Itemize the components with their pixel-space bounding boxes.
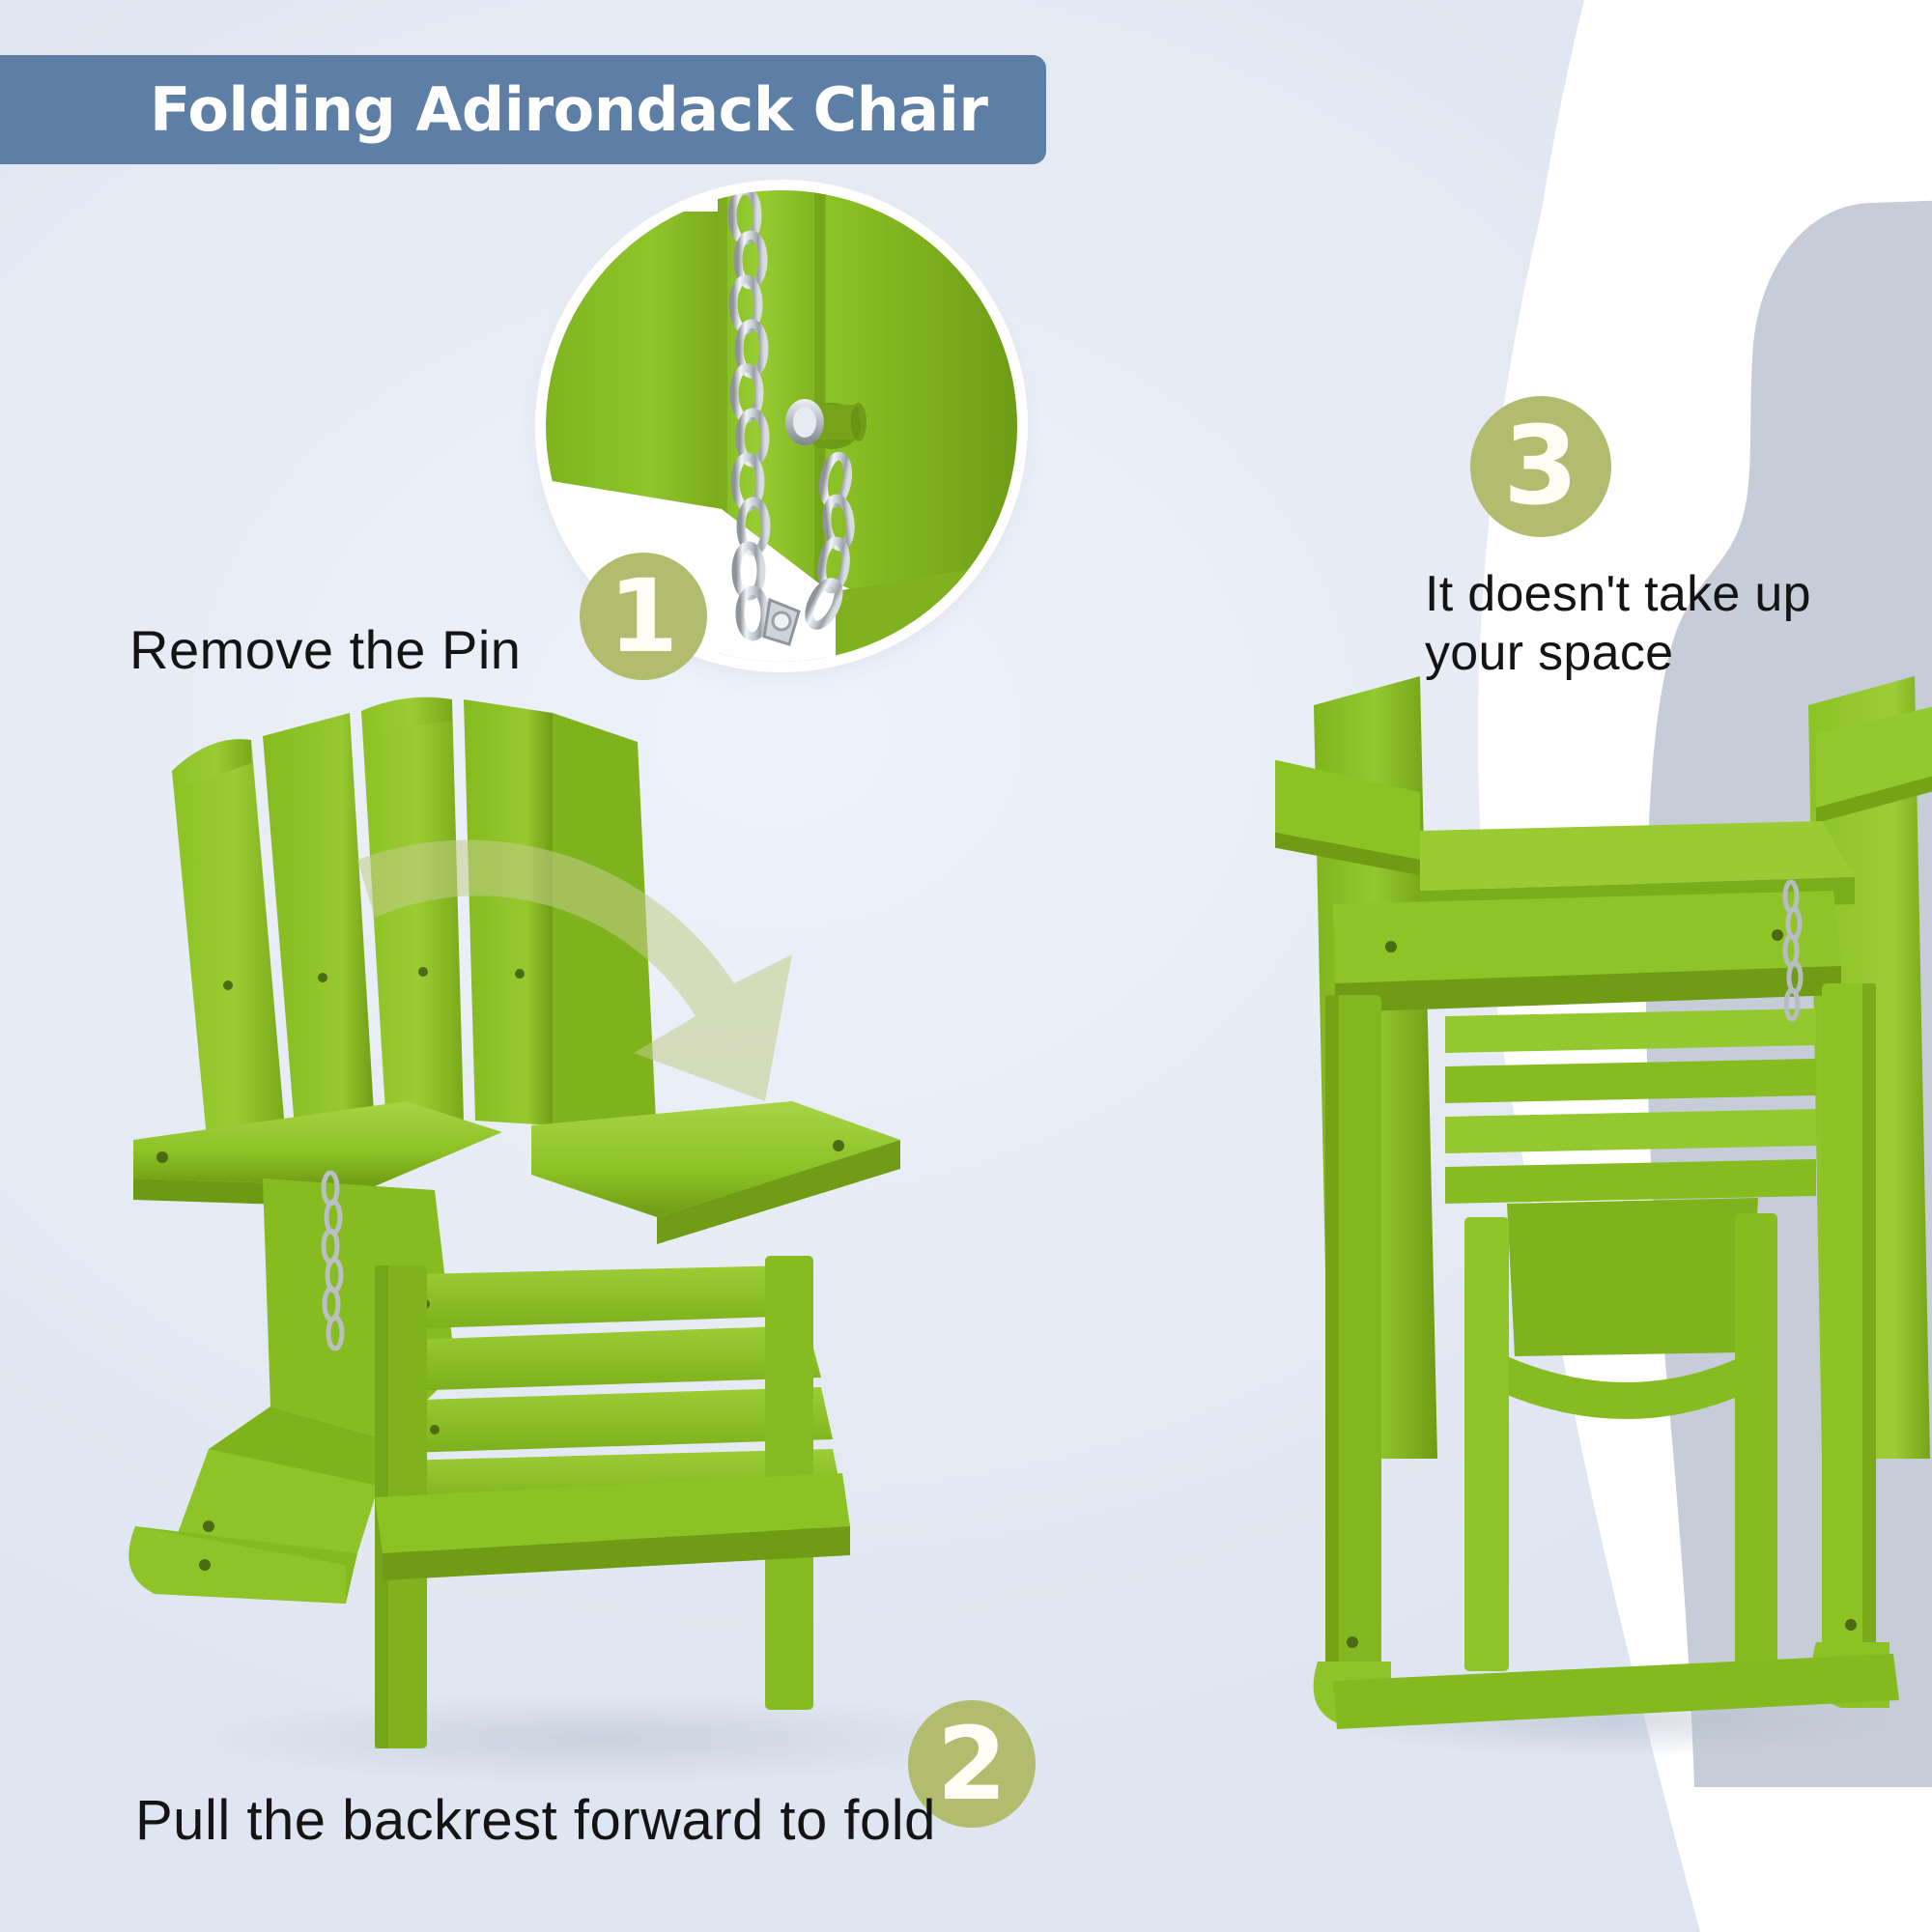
step-2-number: 2: [937, 1714, 1007, 1814]
chair-back-slats: [172, 697, 657, 1159]
infographic-canvas: Folding Adirondack Chair: [0, 0, 1932, 1932]
person-silhouette: [1633, 193, 1932, 1787]
step-1-badge: 1: [580, 553, 707, 680]
folded-legs: [1314, 983, 1889, 1725]
step-2-caption: Pull the backrest forward to fold: [135, 1788, 936, 1854]
page-title: Folding Adirondack Chair: [150, 80, 987, 140]
chair-right-arm: [531, 1101, 900, 1244]
step-3-caption: It doesn't take up your space: [1425, 565, 1811, 684]
chair-seat-slats: [377, 1265, 842, 1511]
folded-seat-slats: [1445, 958, 1816, 1204]
title-bar: Folding Adirondack Chair: [0, 55, 1046, 164]
white-curved-panel: [1063, 0, 1932, 1932]
chair-left-arm: [133, 1101, 502, 1207]
chair-left-side-panel: [128, 1179, 456, 1604]
fold-direction-arrow: [357, 840, 792, 1101]
step-3-badge: 3: [1470, 396, 1611, 537]
chair-front-stretcher: [375, 1473, 850, 1580]
folded-chair-image: [1275, 676, 1932, 1768]
chair-chain: [324, 1173, 342, 1349]
step-1-caption: Remove the Pin: [129, 618, 521, 682]
step-3-number: 3: [1503, 412, 1578, 521]
folded-chair-chain: [1785, 882, 1801, 1019]
folded-front-apron: [1333, 891, 1841, 1012]
assembled-chair-image: [116, 599, 1159, 1787]
chair-front-legs: [375, 1256, 813, 1748]
folded-left-arm: [1275, 753, 1420, 875]
step-1-number: 1: [609, 566, 678, 667]
folded-right-arm: [1816, 696, 1932, 823]
